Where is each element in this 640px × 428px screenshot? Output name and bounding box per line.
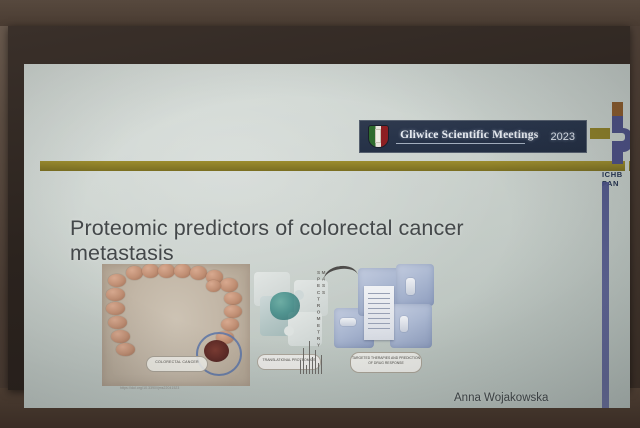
colorectal-cancer-label: COLORECTAL CANCER <box>146 356 208 372</box>
report-document-icon <box>364 286 394 340</box>
brand-vertical-stripe <box>602 182 609 408</box>
gliwice-coat-of-arms-icon <box>369 126 388 147</box>
figure-attribution: https://doi.org/10.3390/ijms22041523 <box>120 386 250 390</box>
projection-screen-frame: Gliwice Scientific Meetings 2023 ICHB PA… <box>8 26 630 390</box>
colon-illustration: COLORECTAL CANCER <box>102 264 250 386</box>
page-title: Proteomic predictors of colorectal cance… <box>70 216 570 266</box>
capsule-icon-1 <box>340 318 356 326</box>
mass-spectrum-icon <box>298 338 326 374</box>
author-name: Anna Wojakowska <box>454 392 548 404</box>
ichb-pan-logo-icon <box>590 102 630 164</box>
targeted-therapies-label: TARGETED THERAPIES AND PREDICTION OF DRU… <box>350 352 422 373</box>
slide-figure: COLORECTAL CANCER https://doi.org/10.339… <box>102 264 437 394</box>
wall-upper <box>0 0 640 26</box>
event-title: Gliwice Scientific Meetings <box>392 129 547 144</box>
event-year: 2023 <box>551 131 575 143</box>
event-title-text: Gliwice Scientific Meetings <box>400 129 538 141</box>
presentation-slide: Gliwice Scientific Meetings 2023 ICHB PA… <box>24 64 630 408</box>
room-photo: Gliwice Scientific Meetings 2023 ICHB PA… <box>0 0 640 428</box>
capsule-icon-2 <box>400 316 408 332</box>
title-underline <box>396 143 525 144</box>
targeted-therapies-panel: TARGETED THERAPIES AND PREDICTION OF DRU… <box>334 264 437 388</box>
capsule-icon-3 <box>406 278 415 295</box>
conference-header-plaque: Gliwice Scientific Meetings 2023 <box>359 120 587 153</box>
olive-divider-bar <box>40 161 625 171</box>
